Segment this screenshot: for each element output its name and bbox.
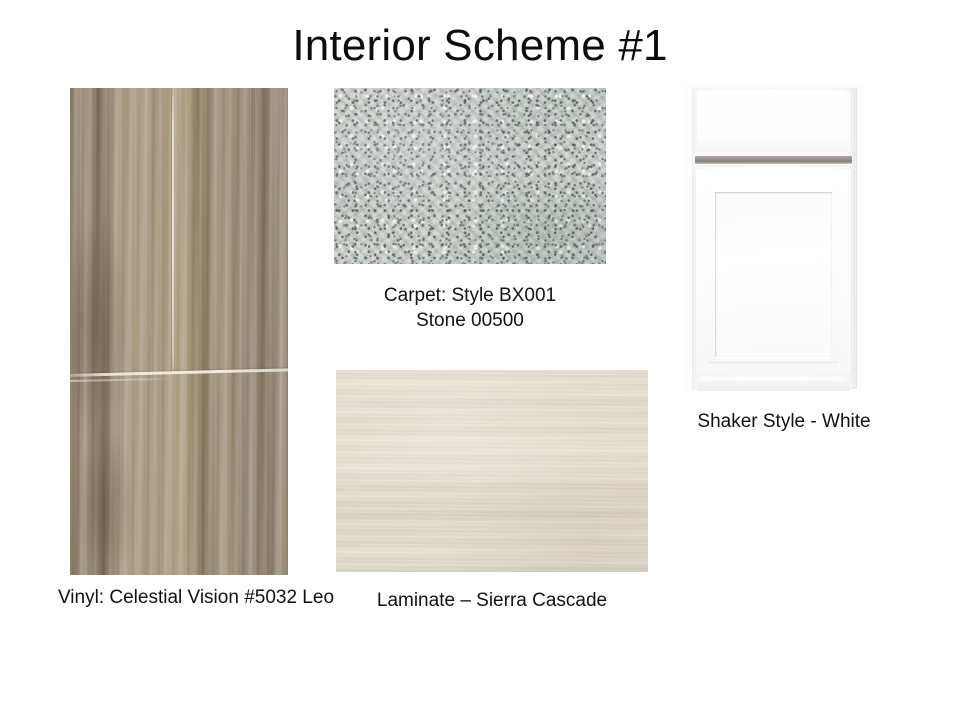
- cabinet-base-rail: [697, 381, 850, 391]
- carpet-caption-line-1: Carpet: Style BX001: [350, 283, 590, 308]
- laminate-shading-overlay: [336, 370, 648, 572]
- vinyl-plank-swatch: [70, 88, 288, 575]
- cabinet-recessed-panel: [715, 192, 832, 357]
- cabinet-drawer-front: [697, 92, 850, 156]
- carpet-caption-line-2: Stone 00500: [350, 308, 590, 333]
- carpet-swatch: [334, 88, 606, 264]
- cabinet-right-edge: [854, 88, 857, 389]
- wood-grain-figure-icon: [76, 418, 134, 575]
- plank-seam-vertical: [172, 88, 174, 374]
- vinyl-caption: Vinyl: Celestial Vision #5032 Leo: [16, 585, 376, 610]
- cabinet-gap-highlight: [695, 164, 852, 167]
- carpet-caption: Carpet: Style BX001 Stone 00500: [350, 283, 590, 333]
- cabinet-shadow-gap: [695, 156, 852, 164]
- laminate-swatch: [336, 370, 648, 572]
- slide-canvas: Interior Scheme #1 Vinyl: Celestial Visi…: [0, 0, 960, 720]
- page-title: Interior Scheme #1: [0, 20, 960, 72]
- wood-grain-figure-icon: [70, 208, 130, 448]
- carpet-shading-overlay: [334, 88, 606, 264]
- cabinet-caption: Shaker Style - White: [660, 409, 908, 434]
- laminate-caption: Laminate – Sierra Cascade: [352, 588, 632, 613]
- cabinet-door-swatch: [682, 85, 865, 392]
